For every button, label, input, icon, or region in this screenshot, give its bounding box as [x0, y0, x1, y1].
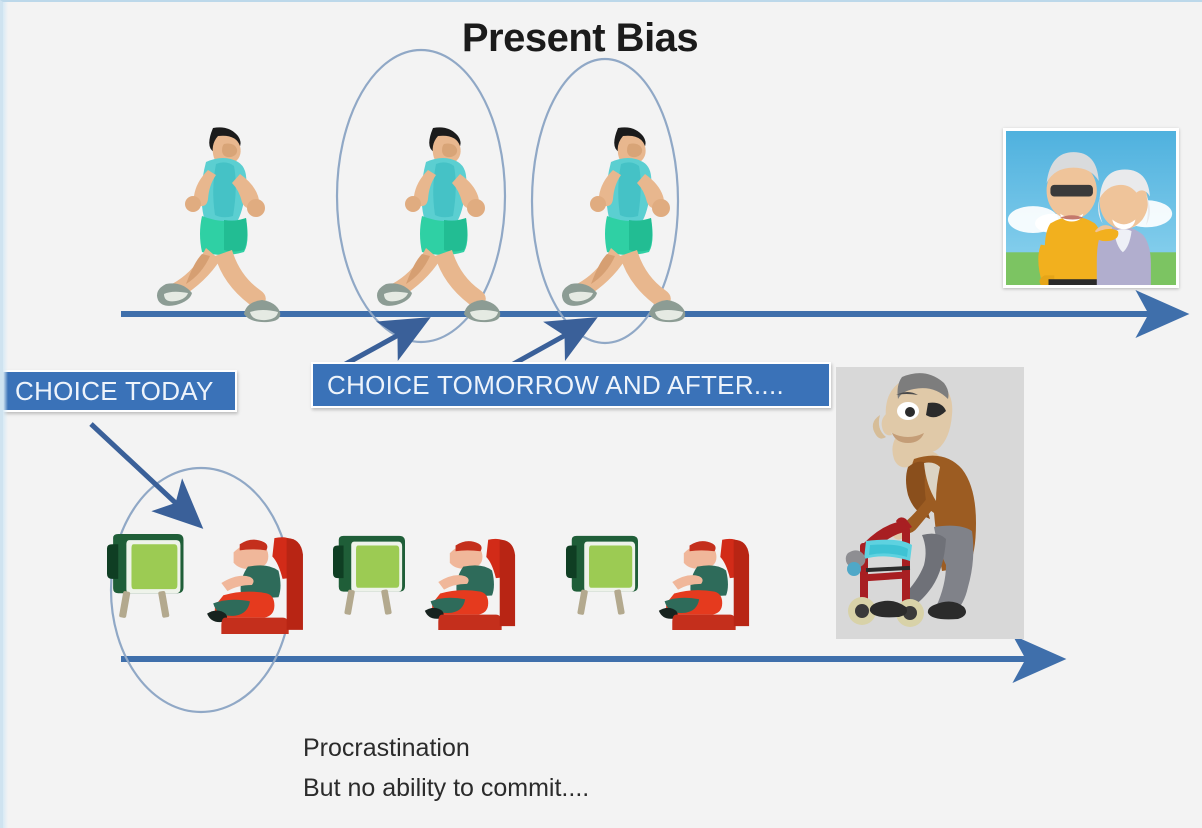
tv-3 — [566, 536, 638, 615]
arrow-today-to-tv — [91, 424, 196, 522]
choice-tomorrow-label[interactable]: CHOICE TOMORROW AND AFTER.... — [311, 362, 831, 408]
elderly-couple-photo — [1003, 128, 1179, 288]
caption-line-2: But no ability to commit.... — [303, 769, 589, 809]
running-man-3 — [562, 127, 685, 322]
choice-today-label-text: CHOICE TODAY — [15, 376, 214, 407]
armchair-viewer-2 — [425, 539, 515, 630]
caption-block: Procrastination But no ability to commit… — [303, 729, 589, 808]
running-man-2 — [377, 127, 500, 322]
old-man-with-walker-illustration — [836, 367, 1024, 639]
armchair-viewer-3 — [659, 539, 749, 630]
caption-line-1: Procrastination — [303, 729, 589, 769]
running-man-1 — [157, 127, 280, 322]
tv-1 — [107, 534, 184, 618]
armchair-viewer-1 — [207, 537, 303, 634]
choice-today-label[interactable]: CHOICE TODAY — [0, 370, 237, 412]
presentation-slide: Present Bias — [0, 0, 1202, 828]
choice-tomorrow-label-text: CHOICE TOMORROW AND AFTER.... — [327, 370, 784, 401]
tv-2 — [333, 536, 405, 615]
